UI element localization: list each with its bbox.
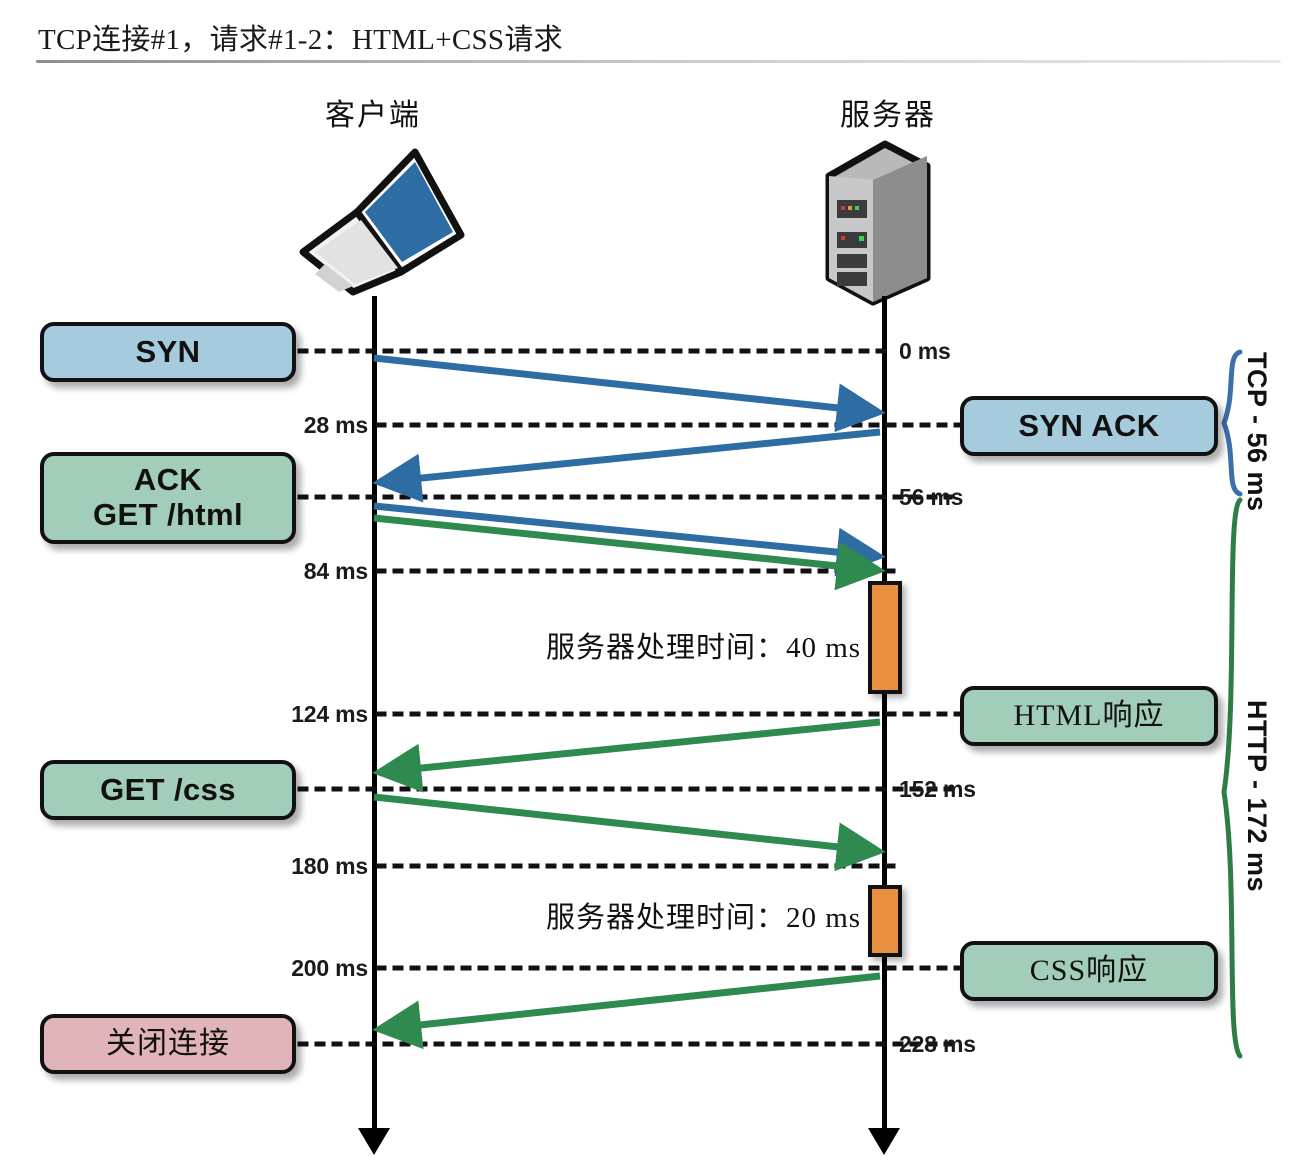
page-title: TCP连接#1，请求#1-2：HTML+CSS请求 <box>38 16 563 58</box>
processing-label-40ms: 服务器处理时间：40 ms <box>546 624 861 666</box>
message-label-ack: ACK <box>134 463 202 498</box>
tick-label-84ms: 84 ms <box>236 558 368 585</box>
title-bar: TCP连接#1，请求#1-2：HTML+CSS请求 <box>0 0 1300 62</box>
server-lifeline <box>882 296 887 1136</box>
title-divider <box>36 60 1281 63</box>
arrow-html-response <box>382 722 880 772</box>
tick-label-180ms: 180 ms <box>226 853 368 880</box>
tcp-brace <box>1224 352 1240 494</box>
tick-label-28ms: 28 ms <box>236 412 368 439</box>
arrow-get-css <box>374 797 876 851</box>
message-box-syn-ack[interactable]: SYN ACK <box>960 396 1218 456</box>
arrow-get-html <box>374 518 876 570</box>
arrow-css-response <box>382 976 880 1029</box>
tick-label-228ms: 228 ms <box>899 1031 976 1058</box>
message-box-html-response[interactable]: HTML响应 <box>960 686 1218 746</box>
message-box-ack-get-html[interactable]: ACK GET /html <box>40 452 296 544</box>
message-label-get-html: GET /html <box>93 498 243 533</box>
message-label-syn: SYN <box>136 335 201 370</box>
server-tower-icon <box>815 136 940 306</box>
processing-bar-20ms <box>868 885 902 957</box>
client-label: 客户端 <box>325 90 421 134</box>
message-label-get-css: GET /css <box>100 773 236 808</box>
message-label-syn-ack: SYN ACK <box>1018 409 1159 444</box>
message-box-css-response[interactable]: CSS响应 <box>960 941 1218 1001</box>
tick-label-0ms: 0 ms <box>899 338 951 365</box>
message-label-css-response: CSS响应 <box>1030 954 1148 988</box>
tick-label-152ms: 152 ms <box>899 776 976 803</box>
sequence-diagram-page: TCP连接#1，请求#1-2：HTML+CSS请求 客户端 服务器 <box>0 0 1300 1162</box>
tcp-bracket-label: TCP - 56 ms <box>1241 352 1272 512</box>
client-lifeline <box>372 296 377 1136</box>
message-label-html-response: HTML响应 <box>1014 699 1165 733</box>
tick-label-200ms: 200 ms <box>226 955 368 982</box>
http-bracket-label: HTTP - 172 ms <box>1241 700 1272 892</box>
tick-label-56ms: 56 ms <box>899 484 963 511</box>
message-box-close-connection[interactable]: 关闭连接 <box>40 1014 296 1074</box>
arrow-ack <box>374 506 876 556</box>
message-box-get-css[interactable]: GET /css <box>40 760 296 820</box>
message-box-syn[interactable]: SYN <box>40 322 296 382</box>
arrow-syn-ack <box>382 432 880 482</box>
server-label: 服务器 <box>840 90 936 134</box>
message-label-close-connection: 关闭连接 <box>106 1027 230 1061</box>
processing-label-20ms: 服务器处理时间：20 ms <box>546 894 861 936</box>
http-brace <box>1224 500 1240 1056</box>
arrow-syn <box>374 358 876 412</box>
laptop-icon <box>295 140 470 300</box>
tick-label-124ms: 124 ms <box>226 701 368 728</box>
processing-bar-40ms <box>868 581 902 694</box>
